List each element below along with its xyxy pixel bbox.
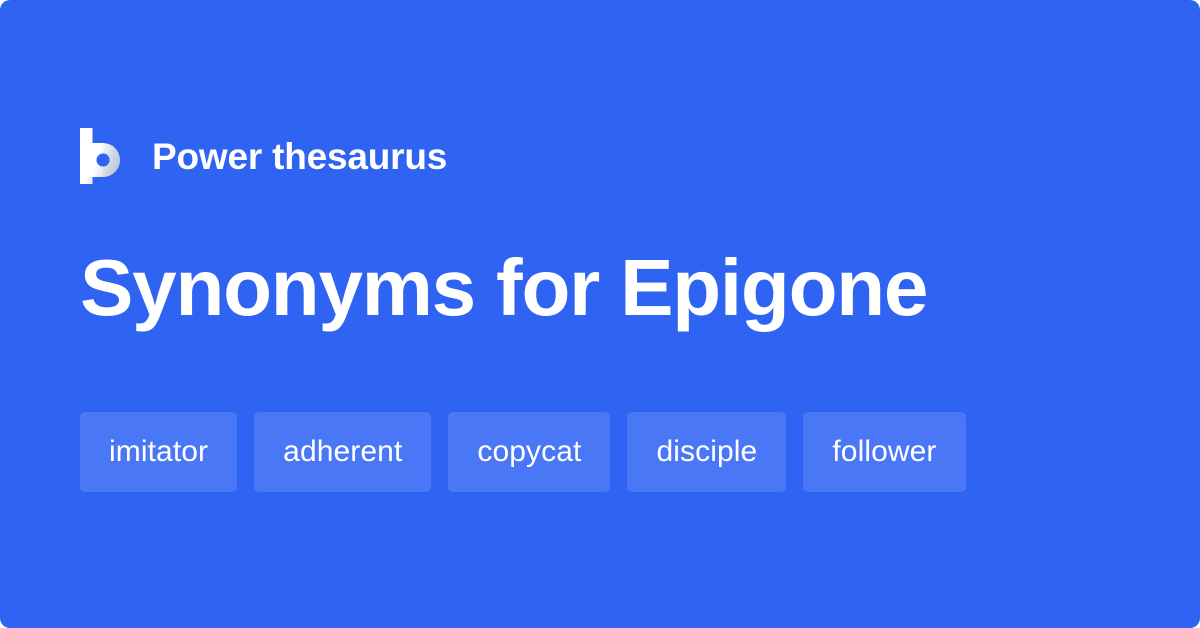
synonym-chip-list: imitator adherent copycat disciple follo… [80,412,1120,492]
brand-name-label: Power thesaurus [152,138,447,175]
synonym-chip[interactable]: imitator [80,412,237,492]
synonym-chip[interactable]: disciple [627,412,786,492]
synonym-chip[interactable]: follower [803,412,965,492]
brand-header[interactable]: Power thesaurus [80,126,447,186]
social-preview-card: Power thesaurus Synonyms for Epigone imi… [0,0,1200,628]
power-thesaurus-b-logo-icon [80,128,126,184]
page-title: Synonyms for Epigone [80,248,1120,328]
synonym-chip[interactable]: adherent [254,412,431,492]
synonym-chip[interactable]: copycat [448,412,610,492]
